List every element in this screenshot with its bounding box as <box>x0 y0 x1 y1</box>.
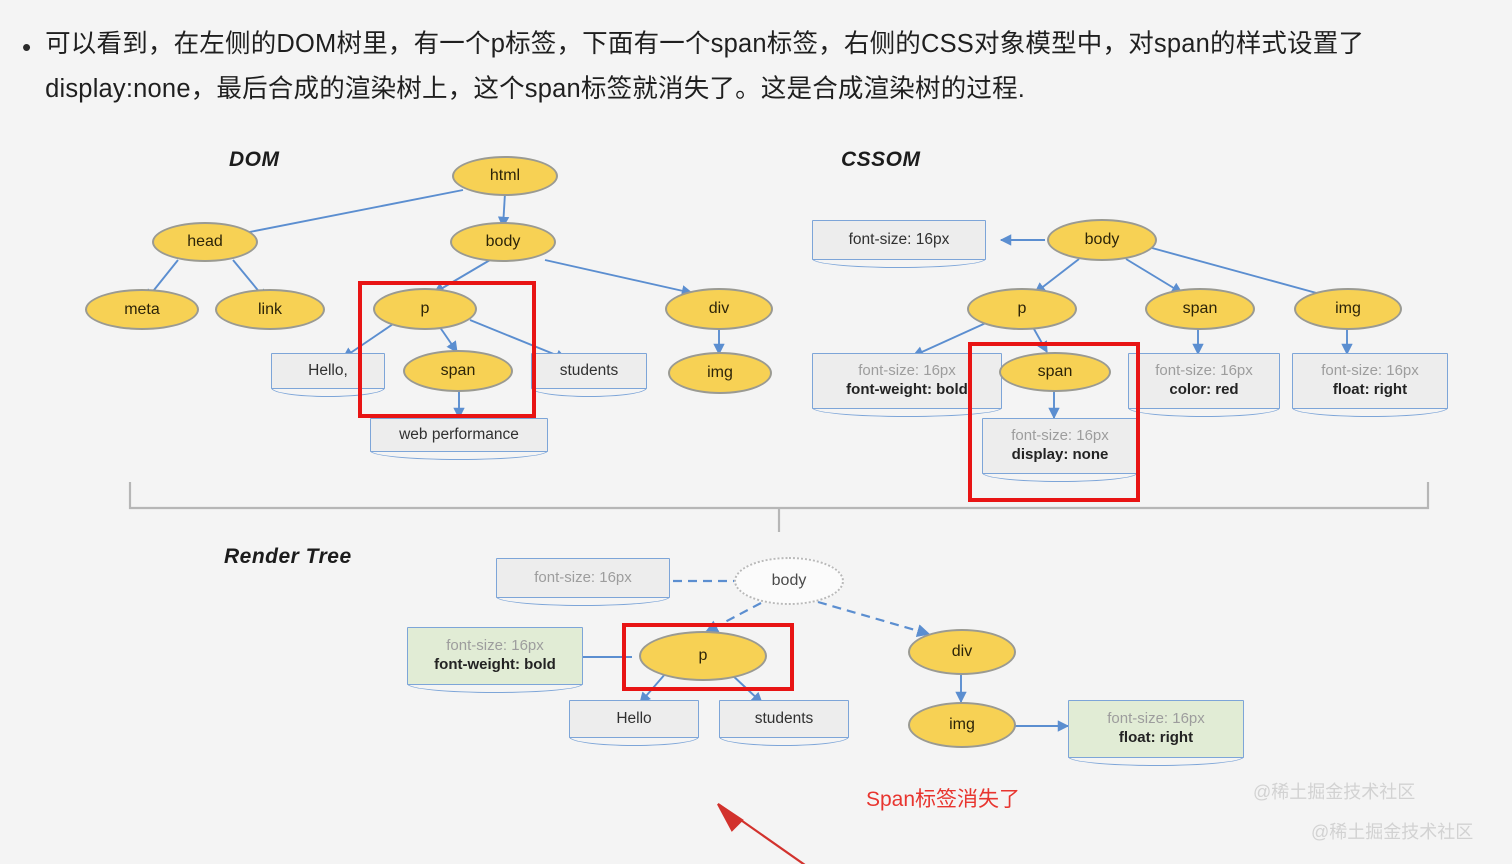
dom-node-html[interactable]: html <box>452 156 558 196</box>
dom-node-link[interactable]: link <box>215 289 325 330</box>
dom-node-body[interactable]: body <box>450 222 556 262</box>
dom-node-div[interactable]: div <box>665 288 773 330</box>
dom-textbox-students[interactable]: students <box>531 353 647 389</box>
cssom-rule-body[interactable]: font-size: 16px <box>812 220 986 260</box>
span-removed-annotation: Span标签消失了 <box>866 783 1020 813</box>
render-rule-body-line1: font-size: 16px <box>534 569 632 588</box>
cssom-node-body[interactable]: body <box>1047 219 1157 261</box>
cssom-rule-span-line2: color: red <box>1169 381 1238 400</box>
dom-textbox-students-label: students <box>560 361 619 381</box>
cssom-node-p[interactable]: p <box>967 288 1077 330</box>
dom-node-img[interactable]: img <box>668 352 772 394</box>
cssom-rule-img-line1: font-size: 16px <box>1321 362 1419 381</box>
render-textbox-students-label: students <box>755 709 814 729</box>
render-rule-img-line2: float: right <box>1119 729 1193 748</box>
caption-text: 可以看到，在左侧的DOM树里，有一个p标签，下面有一个span标签，右侧的CSS… <box>45 22 1498 113</box>
watermark-primary: @稀土掘金技术社区 <box>1253 778 1415 804</box>
cssom-rule-body-line1: font-size: 16px <box>849 230 950 250</box>
cssom-node-img[interactable]: img <box>1294 288 1402 330</box>
render-rule-p[interactable]: font-size: 16px font-weight: bold <box>407 627 583 685</box>
watermark-secondary: @稀土掘金技术社区 <box>1311 818 1473 844</box>
render-section-title: Render Tree <box>224 545 352 569</box>
diagram-area: DOM CSSOM Render Tree html head body met… <box>0 130 1512 864</box>
dom-textbox-hello-label: Hello, <box>308 361 348 381</box>
dom-textbox-webperformance-label: web performance <box>399 425 519 445</box>
render-node-img[interactable]: img <box>908 702 1016 748</box>
dom-node-meta[interactable]: meta <box>85 289 199 330</box>
dom-node-head[interactable]: head <box>152 222 258 262</box>
render-node-body[interactable]: body <box>734 557 844 605</box>
render-textbox-hello-label: Hello <box>616 709 651 729</box>
dom-section-title: DOM <box>229 148 280 172</box>
render-textbox-students[interactable]: students <box>719 700 849 738</box>
dom-textbox-webperformance[interactable]: web performance <box>370 418 548 452</box>
render-node-div[interactable]: div <box>908 629 1016 675</box>
render-rule-p-line1: font-size: 16px <box>446 637 544 656</box>
render-textbox-hello[interactable]: Hello <box>569 700 699 738</box>
render-rule-img-line1: font-size: 16px <box>1107 710 1205 729</box>
slide-canvas: • 可以看到，在左侧的DOM树里，有一个p标签，下面有一个span标签，右侧的C… <box>0 0 1512 864</box>
render-rule-body[interactable]: font-size: 16px <box>496 558 670 598</box>
cssom-rule-p-line2: font-weight: bold <box>846 381 968 400</box>
caption-paragraph: • 可以看到，在左侧的DOM树里，有一个p标签，下面有一个span标签，右侧的C… <box>18 22 1498 113</box>
render-rule-img[interactable]: font-size: 16px float: right <box>1068 700 1244 758</box>
render-rule-p-line2: font-weight: bold <box>434 656 556 675</box>
bullet-icon: • <box>22 34 31 60</box>
cssom-rule-p-line1: font-size: 16px <box>858 362 956 381</box>
dom-highlight-rect <box>358 281 536 418</box>
cssom-rule-span-line1: font-size: 16px <box>1155 362 1253 381</box>
cssom-section-title: CSSOM <box>841 148 921 172</box>
cssom-rule-img-line2: float: right <box>1333 381 1407 400</box>
cssom-rule-img[interactable]: font-size: 16px float: right <box>1292 353 1448 409</box>
cssom-rule-span[interactable]: font-size: 16px color: red <box>1128 353 1280 409</box>
cssom-node-span[interactable]: span <box>1145 288 1255 330</box>
render-highlight-rect <box>622 623 794 691</box>
cssom-highlight-rect <box>968 342 1140 502</box>
